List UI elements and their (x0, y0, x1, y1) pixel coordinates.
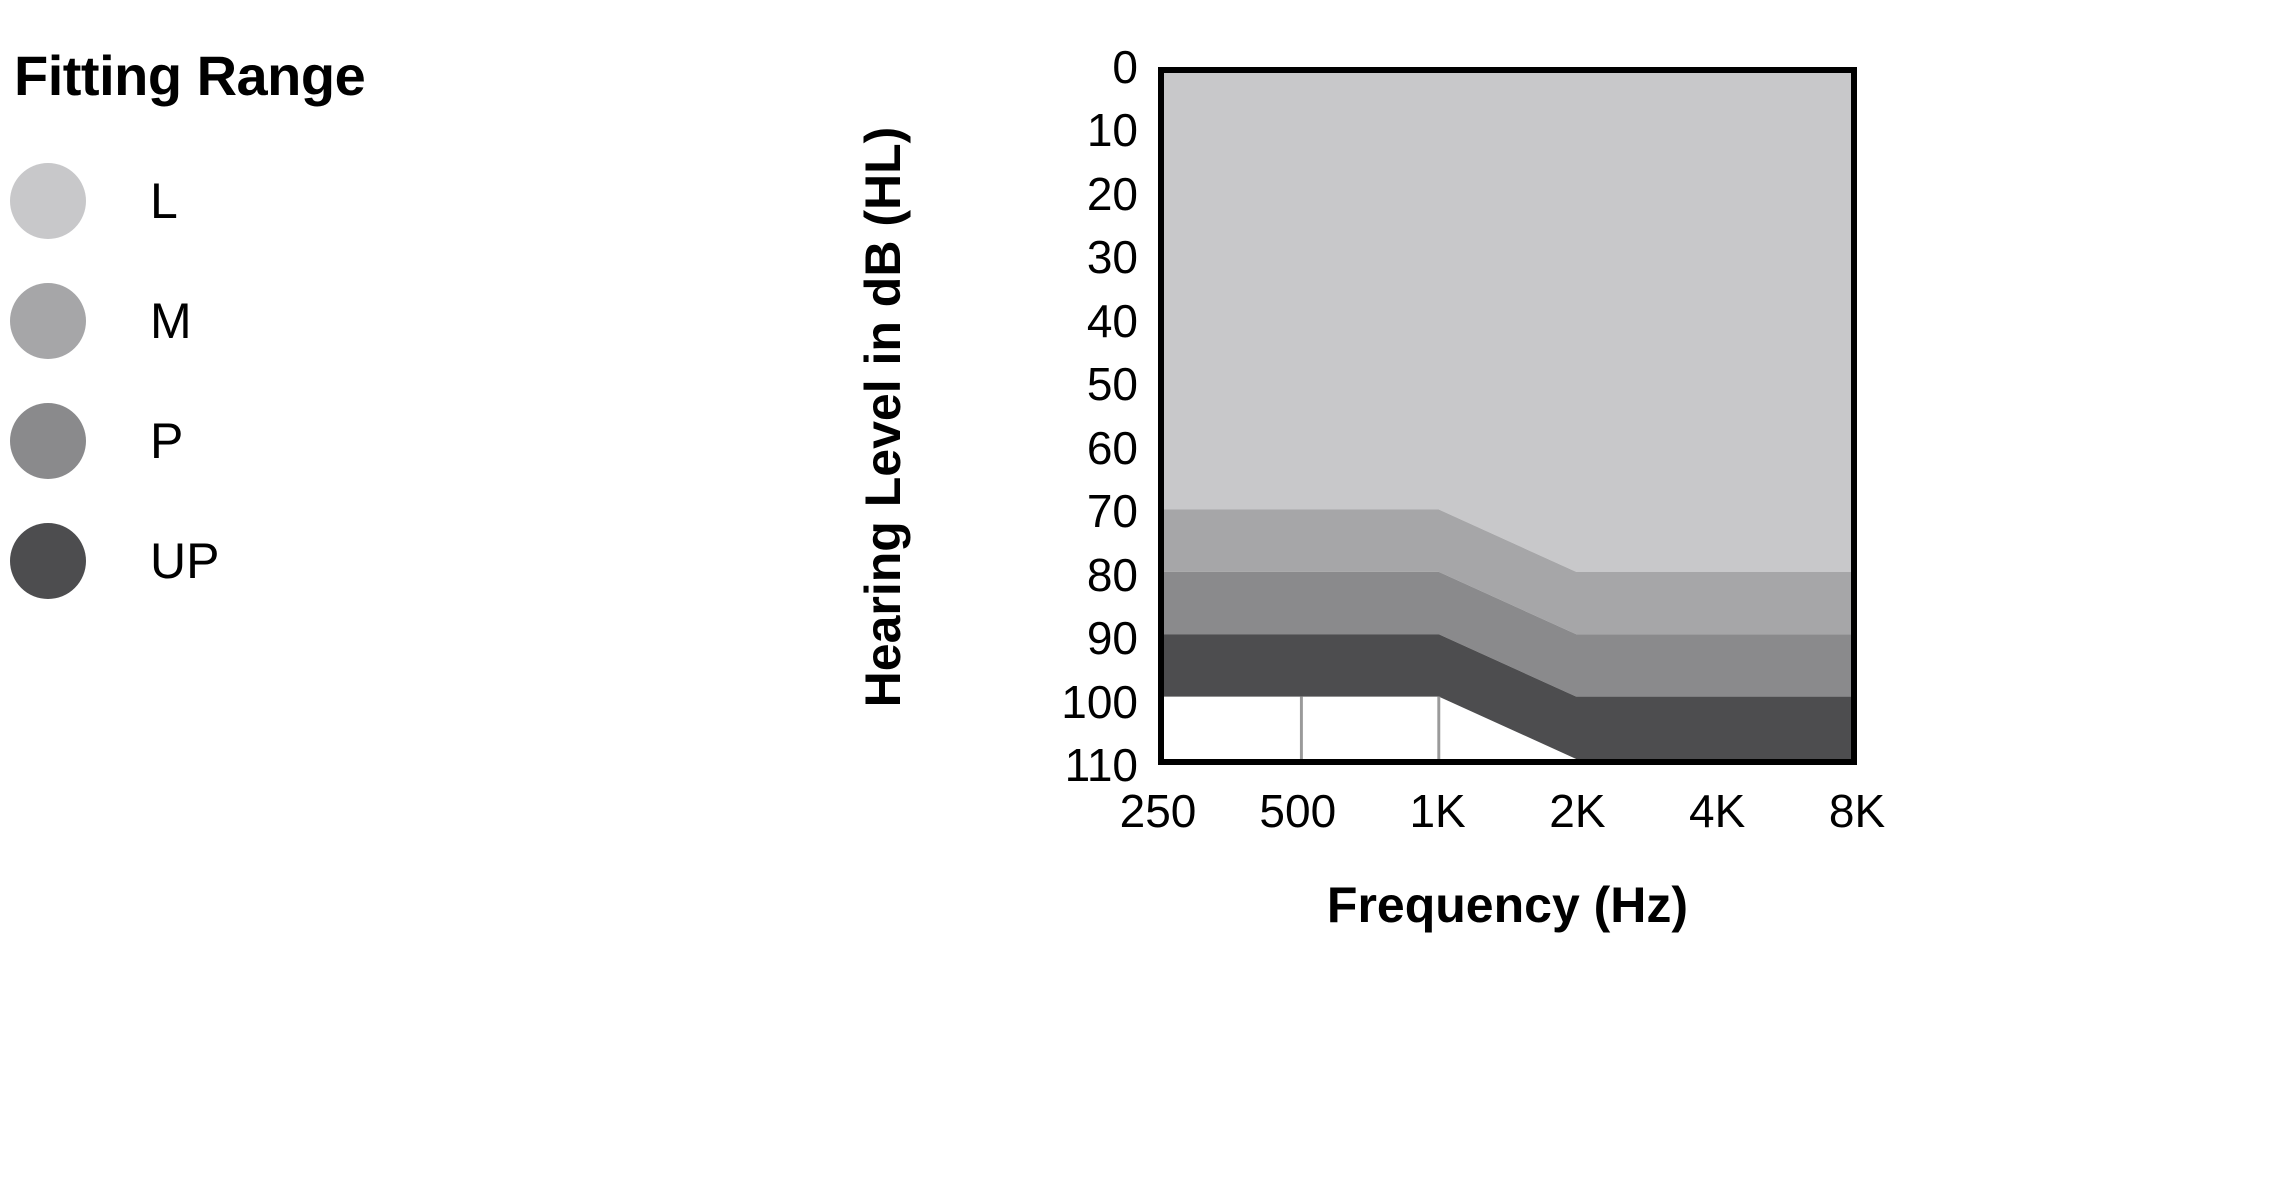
x-tick-label: 4K (1689, 788, 1745, 834)
y-tick-label: 40 (1000, 298, 1138, 344)
x-axis-title: Frequency (Hz) (1158, 880, 1857, 930)
x-tick-label: 2K (1549, 788, 1605, 834)
y-tick-label: 110 (1000, 742, 1138, 788)
y-axis-tick-labels: 0102030405060708090100110 (1000, 67, 1138, 765)
y-tick-label: 0 (1000, 44, 1138, 90)
y-tick-label: 70 (1000, 488, 1138, 534)
y-tick-label: 90 (1000, 615, 1138, 661)
y-tick-label: 60 (1000, 425, 1138, 471)
x-axis-tick-labels: 2505001K2K4K8K (1158, 788, 1857, 844)
x-tick-label: 500 (1259, 788, 1336, 834)
y-tick-label: 10 (1000, 107, 1138, 153)
y-tick-label: 100 (1000, 679, 1138, 725)
x-tick-label: 8K (1829, 788, 1885, 834)
x-tick-label: 250 (1120, 788, 1197, 834)
y-tick-label: 30 (1000, 234, 1138, 280)
y-tick-label: 80 (1000, 552, 1138, 598)
y-tick-label: 50 (1000, 361, 1138, 407)
area-band-l (1164, 73, 1851, 572)
y-tick-label: 20 (1000, 171, 1138, 217)
y-axis-title: Hearing Level in dB (HL) (853, 62, 913, 772)
plot-svg (1164, 73, 1851, 759)
audiogram-fitting-range-chart: Hearing Level in dB (HL) 010203040506070… (0, 0, 2280, 1000)
x-tick-label: 1K (1409, 788, 1465, 834)
plot-area (1158, 67, 1857, 765)
